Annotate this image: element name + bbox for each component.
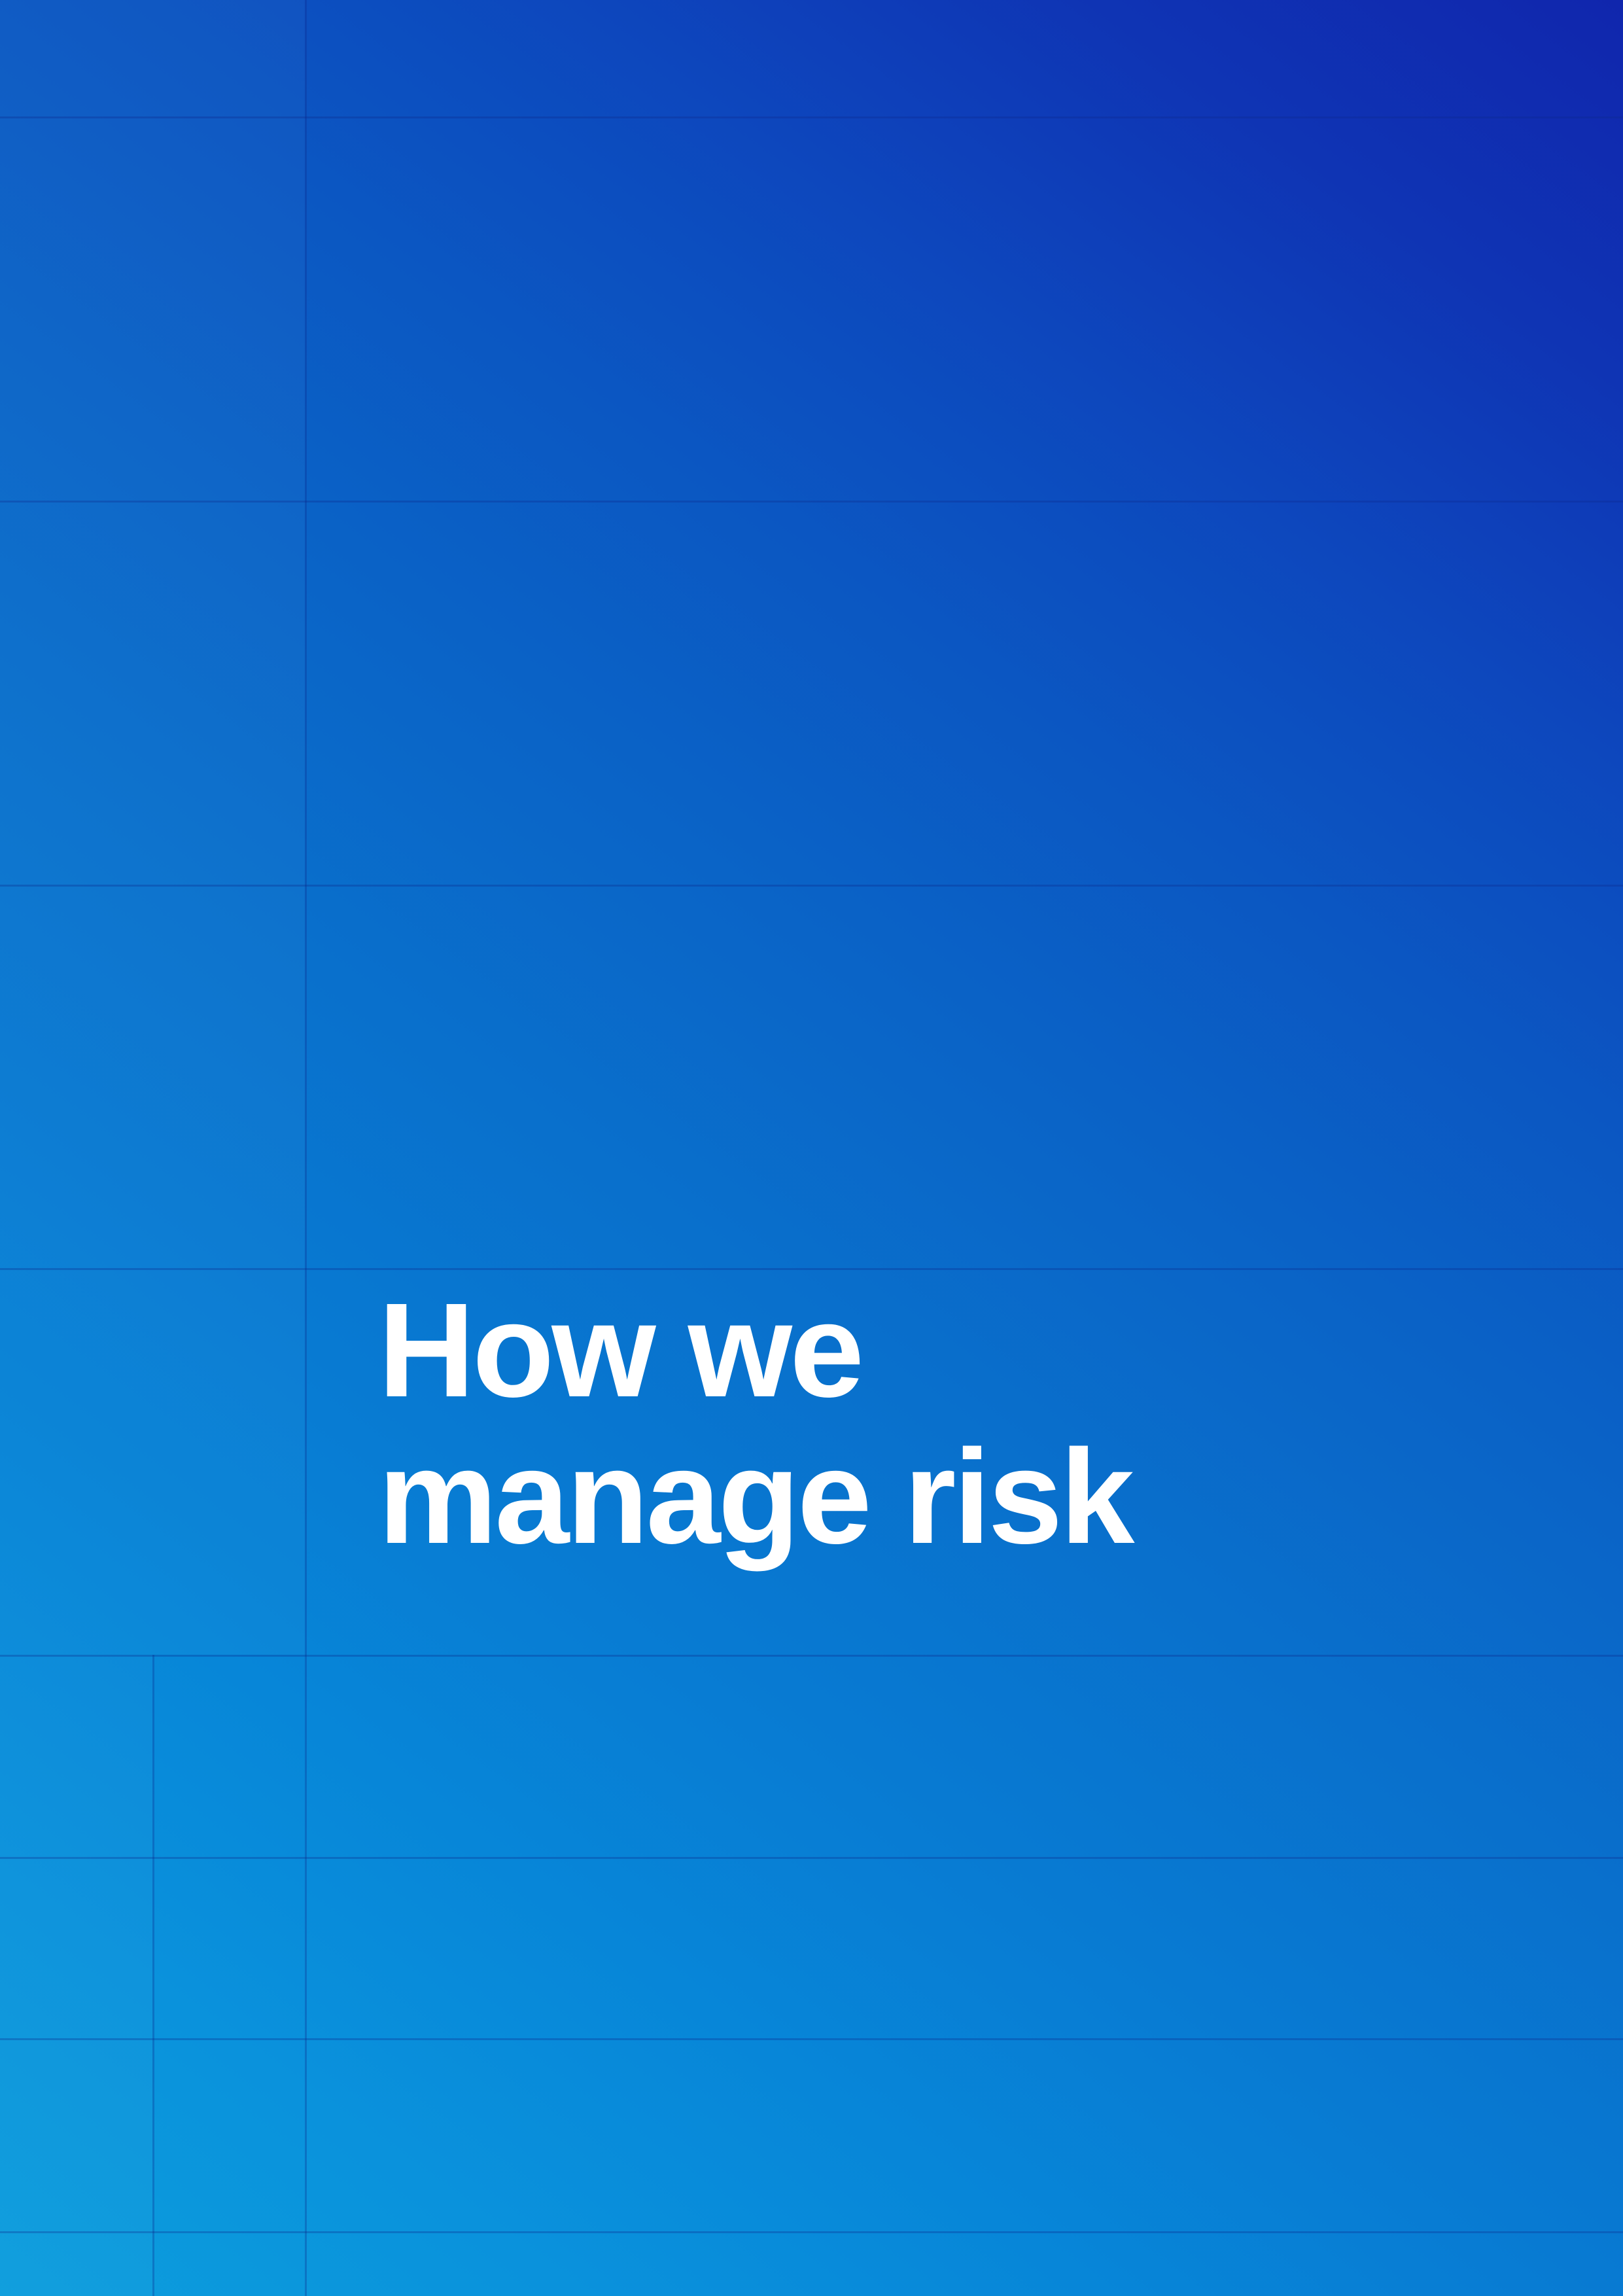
gridline-horizontal-6: [0, 1857, 1623, 1859]
page-title-line-1: How we: [378, 1277, 1490, 1424]
grid-panel-r8: [0, 2038, 152, 2231]
gridline-horizontal-4: [0, 1268, 1623, 1270]
gridline-horizontal-5: [0, 1655, 1623, 1657]
cover-page: How we manage risk: [0, 0, 1623, 2296]
page-title: How we manage risk: [378, 1277, 1490, 1570]
grid-panel-r1: [0, 0, 305, 116]
gridline-horizontal-2: [0, 501, 1623, 503]
gridline-vertical-lower: [152, 1655, 154, 2296]
grid-lines: [0, 0, 1623, 2296]
gridline-horizontal-7: [0, 2038, 1623, 2040]
gridline-vertical-main: [305, 0, 307, 2296]
page-title-line-2: manage risk: [378, 1424, 1490, 1570]
grid-panel-r6: [0, 1655, 152, 1857]
grid-panel-r3: [0, 501, 305, 885]
grid-panels: [0, 0, 1623, 2296]
grid-panel-r4: [0, 885, 305, 1268]
gridline-horizontal-1: [0, 116, 1623, 118]
grid-panel-r2: [0, 116, 305, 501]
grid-panel-r7: [0, 1857, 152, 2038]
gridline-horizontal-3: [0, 885, 1623, 887]
grid-panel-r5: [0, 1268, 305, 1655]
grid-panel-r9: [0, 2231, 152, 2296]
gridline-horizontal-8: [0, 2231, 1623, 2233]
